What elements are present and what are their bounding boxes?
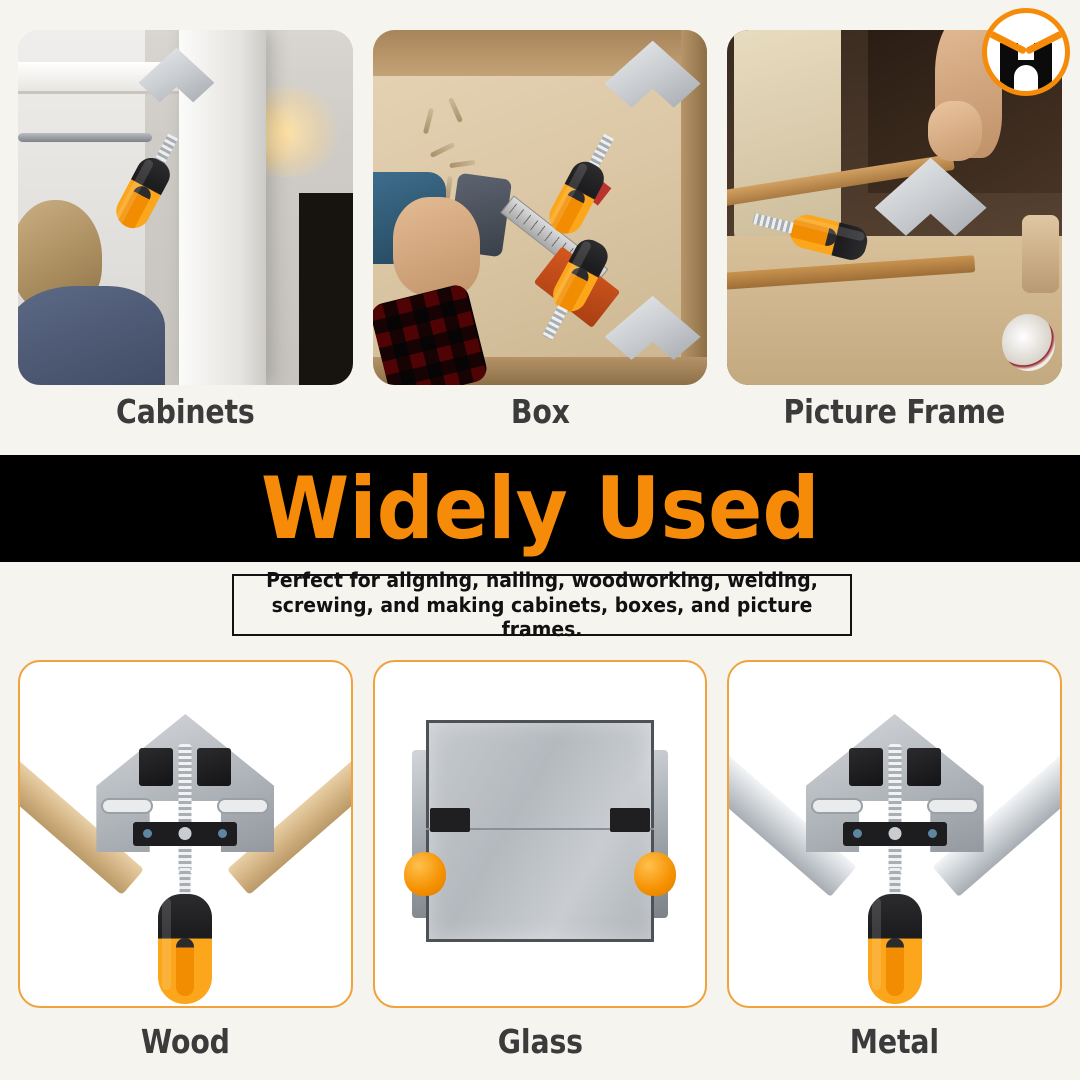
use-case-caption-row: Cabinets Box Picture Frame bbox=[18, 392, 1062, 431]
headline-title: Widely Used bbox=[261, 466, 820, 552]
clamp-body bbox=[605, 296, 701, 378]
logo-roof-icon bbox=[992, 26, 1060, 52]
logo-h-arch bbox=[1014, 65, 1038, 89]
worker-hand bbox=[928, 101, 982, 161]
use-case-photo-cabinets bbox=[18, 30, 353, 385]
description-text: Perfect for aligning, nailing, woodworki… bbox=[262, 568, 822, 641]
caption-metal: Metal bbox=[751, 1022, 1039, 1061]
worker-hand bbox=[393, 197, 480, 296]
angle-clamp-icon bbox=[605, 296, 701, 378]
screwdriver-icon bbox=[158, 868, 212, 1008]
material-card-wood bbox=[18, 660, 353, 1008]
clamp-black-plate bbox=[133, 822, 237, 846]
description-box: Perfect for aligning, nailing, woodworki… bbox=[232, 574, 852, 636]
clamp-jaw-right bbox=[197, 748, 231, 786]
clamp-body bbox=[605, 41, 701, 127]
dark-doorway bbox=[299, 193, 353, 385]
clamp-mounting-slot-left bbox=[101, 798, 153, 814]
plaid-shirt-sleeve bbox=[373, 282, 491, 385]
material-caption-row: Wood Glass Metal bbox=[18, 1022, 1062, 1061]
cabinet-installation-scene bbox=[18, 30, 353, 385]
angle-clamp-icon bbox=[605, 41, 701, 127]
box-assembly-scene bbox=[373, 30, 708, 385]
material-card-metal bbox=[727, 660, 1062, 1008]
clamp-jaw-left bbox=[430, 808, 470, 832]
person-torso bbox=[18, 286, 165, 385]
screwdriver-icon bbox=[868, 868, 922, 1008]
clamp-threaded-rod bbox=[888, 744, 901, 876]
caption-box: Box bbox=[396, 392, 684, 431]
screw-icon bbox=[423, 108, 434, 134]
headline-banner: Widely Used bbox=[0, 455, 1080, 562]
description-line-2: screwing, and making cabinets, boxes, an… bbox=[272, 593, 813, 641]
wood-dowel bbox=[1022, 215, 1059, 293]
clamp-mounting-slot-right bbox=[927, 798, 979, 814]
screw-icon bbox=[429, 142, 455, 158]
screwdriver-knob-left bbox=[404, 852, 446, 896]
screwdriver-shaft bbox=[542, 305, 568, 340]
caption-wood: Wood bbox=[41, 1022, 329, 1061]
material-card-glass bbox=[373, 660, 708, 1008]
caption-cabinets: Cabinets bbox=[41, 392, 329, 431]
use-case-photo-row bbox=[18, 30, 1062, 385]
clamp-black-plate bbox=[843, 822, 947, 846]
clamp-jaw-left bbox=[849, 748, 883, 786]
screwdriver-grip bbox=[868, 894, 922, 1004]
description-line-1: Perfect for aligning, nailing, woodworki… bbox=[266, 568, 818, 592]
caption-glass: Glass bbox=[396, 1022, 684, 1061]
clamp-mounting-slot-right bbox=[217, 798, 269, 814]
angle-clamp-icon bbox=[875, 158, 987, 258]
clamp-threaded-rod bbox=[179, 744, 192, 876]
clamp-mounting-slot-left bbox=[811, 798, 863, 814]
material-product-row bbox=[18, 660, 1062, 1008]
closet-rail bbox=[18, 133, 152, 142]
clamp-jaw-left bbox=[139, 748, 173, 786]
caption-picture-frame: Picture Frame bbox=[751, 392, 1039, 431]
screwdriver-grip bbox=[543, 156, 609, 239]
clamp-body bbox=[138, 48, 214, 118]
angle-clamp-icon bbox=[138, 48, 214, 118]
screwdriver-grip bbox=[158, 894, 212, 1004]
screw-icon bbox=[449, 159, 475, 168]
measuring-tape bbox=[1002, 314, 1056, 371]
screwdriver-knob-right bbox=[634, 852, 676, 896]
clamp-jaw-right bbox=[610, 808, 650, 832]
screw-icon bbox=[448, 98, 463, 124]
screwdriver-shaft bbox=[752, 213, 793, 233]
use-case-photo-box bbox=[373, 30, 708, 385]
clamp-body bbox=[875, 158, 987, 258]
screwdriver-grip bbox=[786, 211, 870, 263]
clamp-jaw-right bbox=[907, 748, 941, 786]
house-h-logo-icon bbox=[982, 8, 1070, 96]
